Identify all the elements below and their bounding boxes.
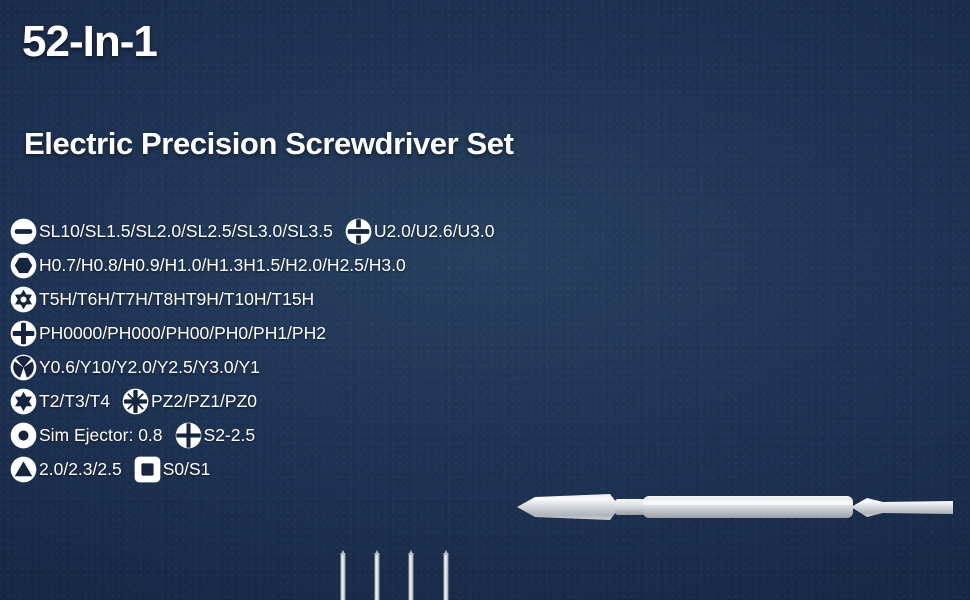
spec-row: Y0.6/Y10/Y2.0/Y2.5/Y3.0/Y1: [10, 350, 430, 384]
triangle-icon: [10, 456, 37, 483]
square-icon: [134, 456, 161, 483]
spec-label: Sim Ejector: 0.8: [39, 425, 163, 446]
spec-label: PH0000/PH000/PH00/PH0/PH1/PH2: [39, 323, 326, 344]
screwdriver-bit: S2 SL1.5: [433, 550, 459, 600]
spec-item: 2.0/2.3/2.5: [10, 456, 132, 483]
specification-list: SL10/SL1.5/SL2.0/SL2.5/SL3.0/SL3.5U2.0/U…: [10, 214, 430, 486]
spec-item: S0/S1: [134, 456, 221, 483]
phillips-icon: [10, 320, 37, 347]
cross-round-icon: [175, 422, 202, 449]
spec-label: S0/S1: [163, 459, 211, 480]
torx-security-icon: [10, 286, 37, 313]
u-shape-icon: [345, 218, 372, 245]
spec-item: U2.0/U2.6/U3.0: [345, 218, 505, 245]
spec-item: Sim Ejector: 0.8: [10, 422, 173, 449]
pozidriv-icon: [122, 388, 149, 415]
page-title: 52-In-1: [22, 17, 970, 67]
screwdriver-bit: S2 Y0.6: [398, 550, 424, 600]
spec-label: T2/T3/T4: [39, 391, 110, 412]
spec-label: H0.7/H0.8/H0.9/H1.0/H1.3H1.5/H2.0/H2.5/H…: [39, 255, 406, 276]
spec-row: SL10/SL1.5/SL2.0/SL2.5/SL3.0/SL3.5U2.0/U…: [10, 214, 430, 248]
tri-wing-icon: [10, 354, 37, 381]
product-infographic: 52-In-1 Electric Precision Screwdriver S…: [0, 0, 970, 600]
bit-row-top: S2 T6HS2 PH000S2 Y0.6S2 SL1.5S2-T3S2-T2S…: [0, 567, 970, 600]
spec-item: H0.7/H0.8/H0.9/H1.0/H1.3H1.5/H2.0/H2.5/H…: [10, 252, 416, 279]
spec-row: 2.0/2.3/2.5S0/S1: [10, 452, 430, 486]
spec-row: PH0000/PH000/PH00/PH0/PH1/PH2: [10, 316, 430, 350]
torx-icon: [10, 388, 37, 415]
spec-item: T2/T3/T4: [10, 388, 120, 415]
page-subtitle: Electric Precision Screwdriver Set: [24, 126, 970, 162]
spec-label: PZ2/PZ1/PZ0: [151, 391, 257, 412]
spec-item: Y0.6/Y10/Y2.0/Y2.5/Y3.0/Y1: [10, 354, 270, 381]
spec-row: H0.7/H0.8/H0.9/H1.0/H1.3H1.5/H2.0/H2.5/H…: [10, 248, 430, 282]
sim-ejector-icon: [10, 422, 37, 449]
screwdriver-bit: S2 PH000: [364, 550, 390, 600]
screwdriver-bit: S2 T6H: [330, 550, 356, 600]
spec-row: T5H/T6H/T7H/T8HT9H/T10H/T15H: [10, 282, 430, 316]
spec-item: PZ2/PZ1/PZ0: [122, 388, 267, 415]
spec-item: T5H/T6H/T7H/T8HT9H/T10H/T15H: [10, 286, 324, 313]
hex-icon: [10, 252, 37, 279]
spec-label: T5H/T6H/T7H/T8HT9H/T10H/T15H: [39, 289, 314, 310]
spec-label: 2.0/2.3/2.5: [39, 459, 122, 480]
spec-label: Y0.6/Y10/Y2.0/Y2.5/Y3.0/Y1: [39, 357, 260, 378]
spec-item: PH0000/PH000/PH00/PH0/PH1/PH2: [10, 320, 336, 347]
spec-label: S2-2.5: [204, 425, 256, 446]
spec-item: S2-2.5: [175, 422, 266, 449]
spec-row: T2/T3/T4PZ2/PZ1/PZ0: [10, 384, 430, 418]
spec-row: Sim Ejector: 0.8S2-2.5: [10, 418, 430, 452]
spec-label: SL10/SL1.5/SL2.0/SL2.5/SL3.0/SL3.5: [39, 221, 333, 242]
spec-item: SL10/SL1.5/SL2.0/SL2.5/SL3.0/SL3.5: [10, 218, 343, 245]
slotted-icon: [10, 218, 37, 245]
spec-label: U2.0/U2.6/U3.0: [374, 221, 495, 242]
metal-spudger-pry-tool: [515, 490, 955, 524]
